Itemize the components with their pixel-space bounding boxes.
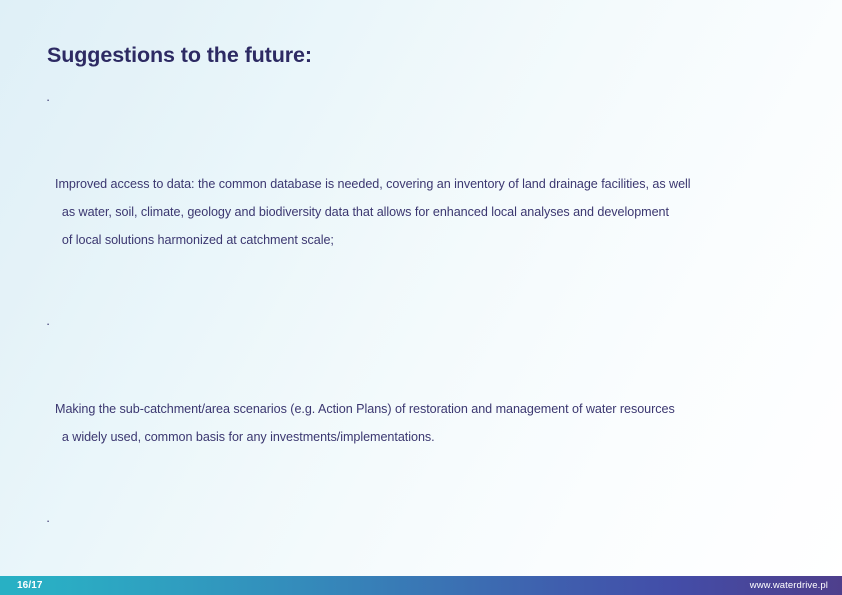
list-item-text: Improved access to data: the common data… bbox=[55, 170, 806, 254]
list-item-text: Making the sub-catchment/area scenarios … bbox=[55, 395, 806, 451]
bullet-point-icon: · bbox=[46, 310, 55, 338]
slide-content-area: Suggestions to the future: · Improved ac… bbox=[0, 0, 842, 576]
page-number-indicator: 16/17 bbox=[17, 576, 43, 595]
list-item: · Making the sub-catchment/area scenario… bbox=[46, 310, 806, 506]
bullet-point-icon: · bbox=[46, 86, 55, 114]
slide-footer-bar: 16/17 www.waterdrive.pl bbox=[0, 576, 842, 595]
footer-website-url[interactable]: www.waterdrive.pl bbox=[750, 576, 828, 595]
presentation-slide: Suggestions to the future: · Improved ac… bbox=[0, 0, 842, 595]
bullet-point-icon: · bbox=[46, 507, 55, 535]
page-title: Suggestions to the future: bbox=[47, 43, 312, 69]
suggestions-bullet-list: · Improved access to data: the common da… bbox=[46, 86, 806, 595]
list-item: · Improved access to data: the common da… bbox=[46, 86, 806, 310]
